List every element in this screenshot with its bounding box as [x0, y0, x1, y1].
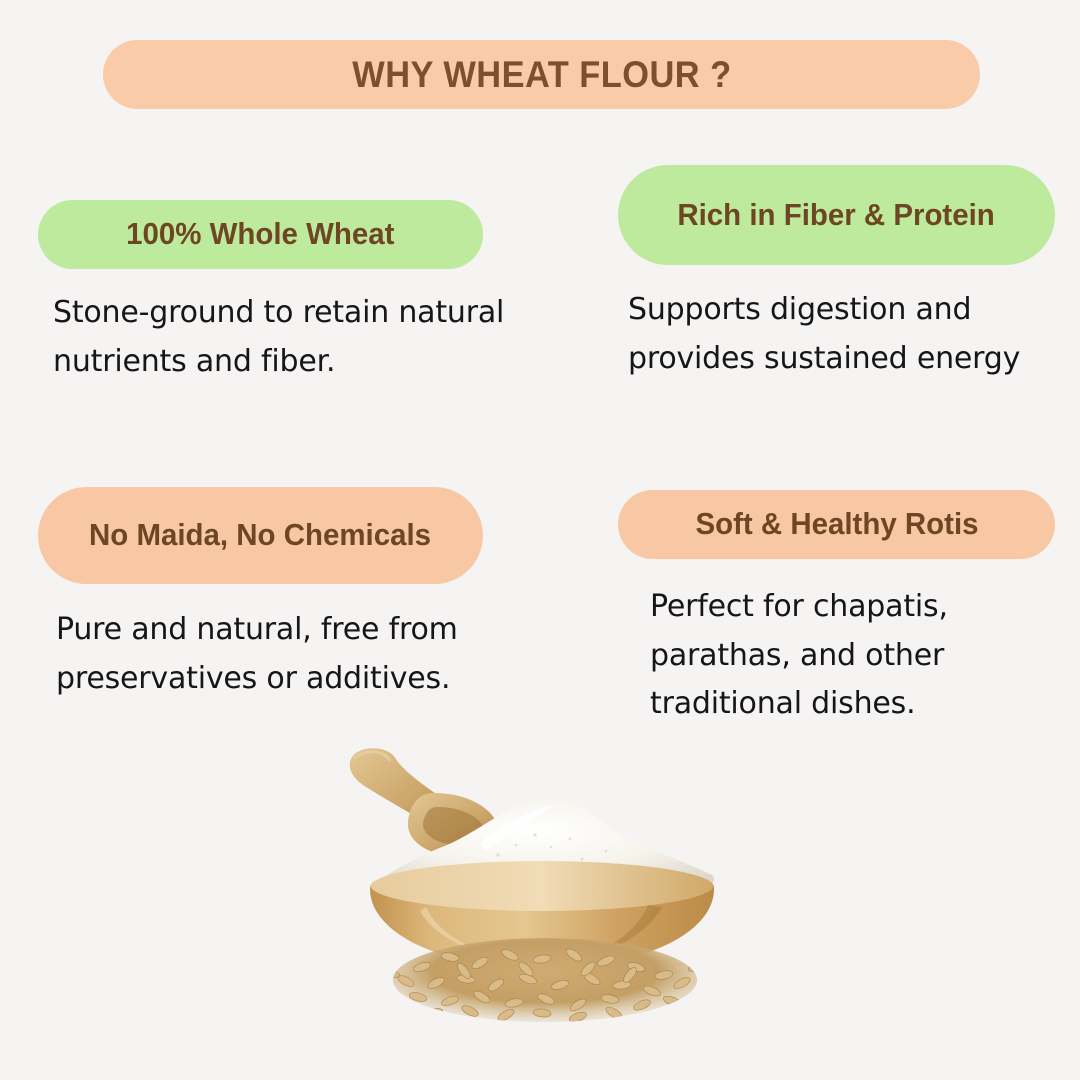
feature-heading-no-maida: No Maida, No Chemicals: [74, 517, 446, 554]
feature-heading-fiber-protein: Rich in Fiber & Protein: [663, 197, 1011, 234]
feature-card-whole-wheat: 100% Whole Wheat Stone-ground to retain …: [38, 200, 508, 386]
feature-card-no-maida: No Maida, No Chemicals Pure and natural,…: [38, 487, 508, 703]
wheat-flour-bowl-image: [330, 735, 760, 1035]
feature-heading-pill-no-maida: No Maida, No Chemicals: [38, 487, 483, 584]
feature-card-soft-rotis: Soft & Healthy Rotis Perfect for chapati…: [618, 490, 1068, 729]
feature-heading-whole-wheat: 100% Whole Wheat: [111, 216, 410, 253]
feature-description-fiber-protein: Supports digestion and provides sustaine…: [628, 286, 1078, 383]
feature-description-no-maida: Pure and natural, free from preservative…: [56, 606, 526, 703]
feature-heading-pill-whole-wheat: 100% Whole Wheat: [38, 200, 483, 269]
feature-description-whole-wheat: Stone-ground to retain natural nutrients…: [53, 289, 513, 386]
page-title: WHY WHEAT FLOUR ?: [352, 54, 731, 96]
feature-heading-soft-rotis: Soft & Healthy Rotis: [680, 506, 993, 543]
infographic-poster: WHY WHEAT FLOUR ? 100% Whole Wheat Stone…: [0, 0, 1080, 1080]
feature-description-soft-rotis: Perfect for chapatis, parathas, and othe…: [650, 583, 1070, 729]
feature-heading-pill-soft-rotis: Soft & Healthy Rotis: [618, 490, 1055, 559]
feature-card-fiber-protein: Rich in Fiber & Protein Supports digesti…: [618, 165, 1068, 383]
page-title-banner: WHY WHEAT FLOUR ?: [103, 40, 980, 109]
feature-heading-pill-fiber-protein: Rich in Fiber & Protein: [618, 165, 1055, 265]
